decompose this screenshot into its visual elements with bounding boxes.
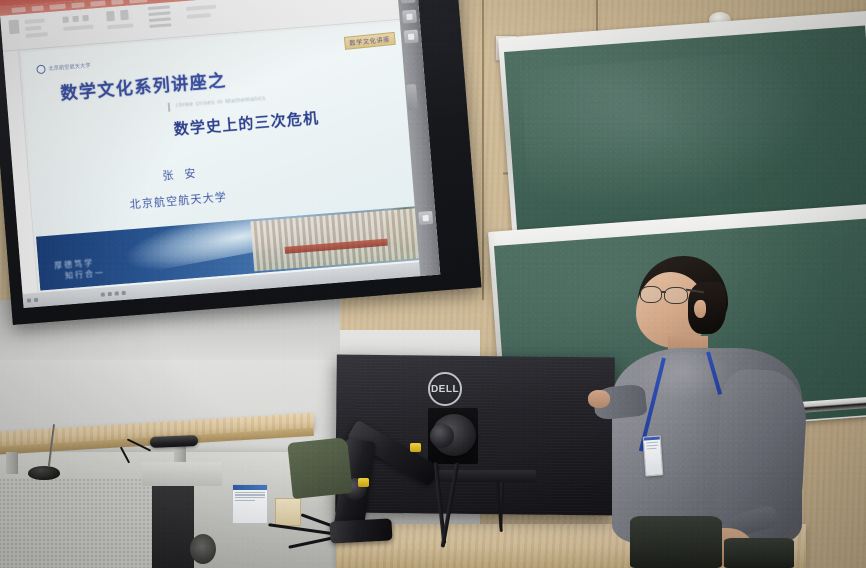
glasses-bridge: [661, 291, 666, 293]
ribbon-control[interactable]: [62, 16, 68, 22]
banner-motto-line2: 知行合一: [55, 269, 106, 284]
university-logo: 北京航空航天大学: [36, 61, 91, 74]
presenter-remote[interactable]: [150, 435, 198, 448]
cabinet-vent-grille: [0, 478, 156, 568]
desk-support-block: [142, 462, 222, 486]
arm-adjustment-marker: [358, 478, 369, 487]
ribbon-control[interactable]: [149, 17, 171, 22]
ppt-tab[interactable]: [71, 2, 84, 8]
ribbon-control[interactable]: [25, 18, 45, 24]
university-logo-text: 北京航空航天大学: [48, 62, 91, 72]
ribbon-control[interactable]: [26, 32, 48, 38]
taskbar-app-icon[interactable]: [101, 292, 105, 296]
university-emblem-icon: [36, 64, 46, 74]
cabinet-dark-panel: [152, 476, 194, 568]
ribbon-control[interactable]: [148, 5, 170, 10]
ribbon-control[interactable]: [149, 23, 171, 28]
lecture-hall-photo: 北京航空航天大学 数学文化讲座 数学文化系列讲座之 Three crises i…: [0, 0, 866, 568]
dell-logo: DELL: [428, 372, 462, 406]
monitor-arm-base: [329, 518, 392, 543]
presentation-slide: 北京航空航天大学 数学文化讲座 数学文化系列讲座之 Three crises i…: [21, 20, 437, 290]
settings-icon[interactable]: [418, 211, 433, 225]
hand-far: [588, 390, 610, 408]
label-line: [235, 500, 255, 501]
trousers: [630, 516, 722, 568]
taskbar-search-icon[interactable]: [34, 298, 38, 302]
browser-icon[interactable]: [400, 0, 415, 4]
glasses-lens-left: [640, 286, 662, 303]
equipment-label-sticker: [232, 484, 268, 524]
slide-canvas[interactable]: 北京航空航天大学 数学文化讲座 数学文化系列讲座之 Three crises i…: [19, 18, 439, 292]
ribbon-control[interactable]: [187, 13, 211, 19]
green-chair-back: [287, 437, 353, 499]
cable-grommet: [190, 534, 216, 564]
ribbon-control[interactable]: [9, 19, 20, 34]
projected-screen[interactable]: 北京航空航天大学 数学文化讲座 数学文化系列讲座之 Three crises i…: [0, 0, 440, 308]
taskbar-app-icon[interactable]: [122, 291, 126, 295]
label-line: [235, 497, 265, 498]
desk-leg: [6, 452, 18, 474]
taskbar-app-icon[interactable]: [115, 291, 119, 295]
ppt-tab[interactable]: [49, 4, 65, 10]
ribbon-control[interactable]: [25, 26, 41, 31]
lecture-series-badge: 数学文化讲座: [344, 32, 396, 50]
ppt-tab[interactable]: [12, 7, 26, 13]
slide-accent-bar: [168, 103, 171, 112]
slide-english-subtitle: Three crises in Mathematics: [175, 96, 266, 109]
badge-line: [646, 448, 656, 450]
ribbon-control[interactable]: [107, 23, 133, 29]
label-header-band: [233, 485, 267, 490]
glasses-lens-right: [664, 287, 688, 304]
monitor-arm-joint[interactable]: [430, 424, 454, 448]
badge-header-stripe: [644, 436, 660, 440]
ribbon-control[interactable]: [72, 16, 78, 22]
slide-author: 张 安: [162, 165, 200, 184]
ppt-tab[interactable]: [90, 0, 105, 6]
toolbar-drag-handle[interactable]: [406, 84, 418, 111]
badge-line: [646, 445, 658, 447]
slide-secondary-title: 数学史上的三次危机: [173, 107, 320, 140]
ear: [694, 300, 706, 318]
ppt-tab[interactable]: [31, 5, 43, 11]
banner-motto: 厚德笃学 知行合一: [54, 258, 106, 284]
ribbon-control[interactable]: [120, 10, 129, 21]
user-icon[interactable]: [404, 30, 419, 44]
ribbon-control[interactable]: [63, 25, 93, 31]
wall-seam: [482, 0, 484, 300]
microphone-head: [28, 466, 60, 480]
ribbon-control[interactable]: [106, 11, 115, 22]
ribbon-control[interactable]: [148, 11, 170, 16]
screen-icon[interactable]: [402, 10, 417, 24]
trousers-right: [724, 538, 794, 568]
taskbar-start-icon[interactable]: [27, 298, 31, 302]
arm-adjustment-marker: [410, 443, 421, 452]
interactive-smartboard[interactable]: 北京航空航天大学 数学文化讲座 数学文化系列讲座之 Three crises i…: [0, 0, 481, 325]
secondary-label-sticker: [275, 498, 301, 526]
badge-line: [646, 442, 658, 444]
id-badge: [643, 435, 664, 476]
taskbar-app-icon[interactable]: [108, 292, 112, 296]
ribbon-control[interactable]: [82, 15, 88, 21]
chalkboard-surface-upper: [504, 25, 866, 231]
ribbon-control[interactable]: [186, 5, 216, 11]
ppt-tab[interactable]: [129, 0, 147, 4]
label-line: [235, 492, 265, 493]
ppt-tab[interactable]: [111, 0, 123, 5]
label-line: [235, 494, 265, 495]
slide-main-title: 数学文化系列讲座之: [59, 66, 227, 104]
slide-affiliation: 北京航空航天大学: [129, 188, 228, 212]
monitor-lower-ledge: [428, 470, 536, 482]
